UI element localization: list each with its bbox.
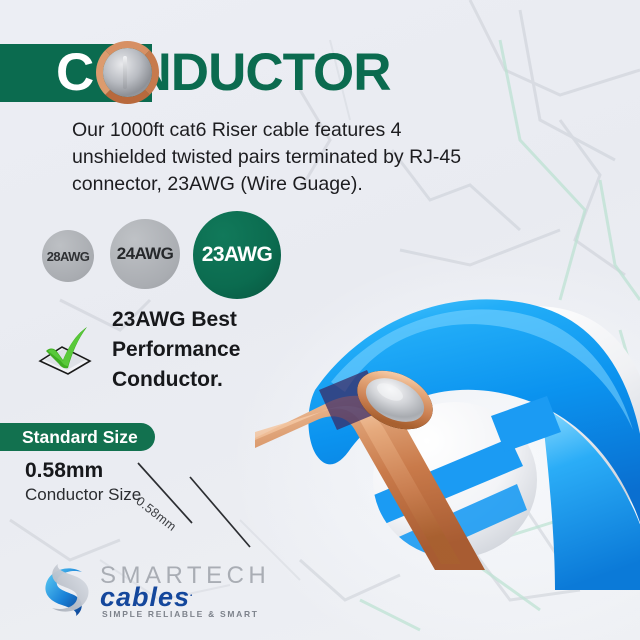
awg-badge-28[interactable]: 28AWG: [42, 230, 94, 282]
title-letter-c: C: [56, 43, 93, 102]
title-rest: NDUCTOR: [134, 43, 391, 102]
logo-registered-mark: .: [190, 588, 194, 599]
green-check-icon: [30, 317, 100, 377]
conductor-size-caption: Conductor Size: [25, 485, 141, 505]
logo-cables-text: cables: [100, 582, 190, 612]
smartech-swirl-icon: [38, 562, 96, 618]
standard-size-pill: Standard Size: [0, 423, 155, 451]
awg-badge-24[interactable]: 24AWG: [110, 219, 180, 289]
conductor-size-value: 0.58mm: [25, 459, 103, 483]
twisted-pair-cable-illustration: [255, 270, 640, 590]
logo-tagline: SIMPLE RELIABLE & SMART: [102, 609, 259, 619]
brand-logo: SMARTECH cables. SIMPLE RELIABLE & SMART: [38, 560, 288, 622]
page-title-row: CONDUCTOR: [0, 44, 640, 102]
conductor-cross-section-icon: [103, 48, 152, 97]
description-paragraph: Our 1000ft cat6 Riser cable features 4 u…: [72, 117, 472, 198]
